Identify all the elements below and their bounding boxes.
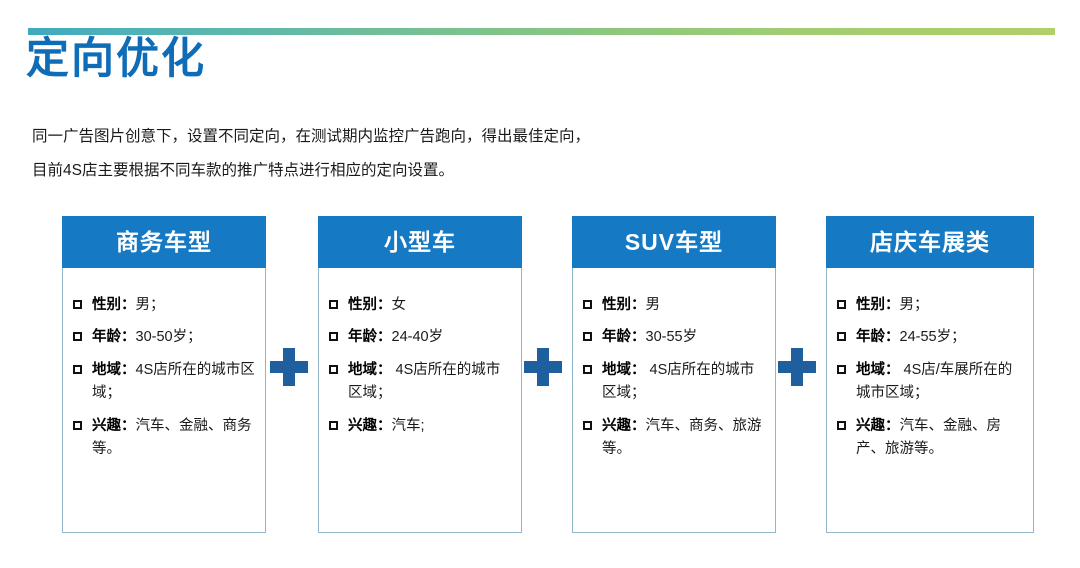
bullet-label: 地域：	[856, 362, 900, 378]
plus-connector-2	[524, 348, 562, 386]
bullet-label: 地域：	[92, 362, 136, 378]
bullet-text: 兴趣：汽车、金融、商务等。	[92, 415, 255, 462]
card-title-compact: 小型车	[384, 231, 456, 254]
square-bullet-icon	[329, 365, 338, 374]
bullet-label: 性别：	[856, 297, 900, 313]
bullet-label: 性别：	[602, 297, 646, 313]
list-item: 兴趣：汽车、商务、旅游等。	[583, 415, 765, 462]
bullet-text: 性别：男；	[92, 294, 255, 317]
targeting-card-anniversary-autoshow[interactable]: 店庆车展类 性别：男； 年龄：24-55岁； 地域： 4S店/车展所在的城市区域…	[826, 216, 1034, 533]
bullet-text: 地域： 4S店所在的城市区域；	[348, 359, 511, 406]
bullet-list-compact: 性别：女 年龄：24-40岁 地域： 4S店所在的城市区域； 兴趣：汽车;	[329, 294, 511, 438]
bullet-label: 性别：	[92, 297, 136, 313]
bullet-label: 地域：	[348, 362, 392, 378]
list-item: 兴趣：汽车、金融、房产、旅游等。	[837, 415, 1023, 462]
intro-line-2: 目前4S店主要根据不同车款的推广特点进行相应的定向设置。	[32, 154, 1042, 188]
bullet-label: 年龄：	[92, 329, 136, 345]
bullet-label: 性别：	[348, 297, 392, 313]
card-body-anniversary-autoshow: 性别：男； 年龄：24-55岁； 地域： 4S店/车展所在的城市区域； 兴趣：汽…	[827, 268, 1033, 462]
list-item: 年龄：24-55岁；	[837, 326, 1023, 349]
bullet-label: 兴趣：	[92, 418, 136, 434]
bullet-text: 年龄：30-50岁；	[92, 326, 255, 349]
list-item: 地域： 4S店所在的城市区域；	[329, 359, 511, 406]
list-item: 年龄：24-40岁	[329, 326, 511, 349]
bullet-label: 兴趣：	[348, 418, 392, 434]
bullet-text: 地域：4S店所在的城市区域；	[92, 359, 255, 406]
bullet-text: 年龄：24-55岁；	[856, 326, 1023, 349]
square-bullet-icon	[583, 300, 592, 309]
bullet-value: 女	[392, 297, 407, 313]
square-bullet-icon	[583, 332, 592, 341]
card-body-suv: 性别：男 年龄：30-55岁 地域： 4S店所在的城市区域； 兴趣：汽车、商务、…	[573, 268, 775, 462]
targeting-card-suv[interactable]: SUV车型 性别：男 年龄：30-55岁 地域： 4S店所在的城市区域；	[572, 216, 776, 533]
list-item: 年龄：30-55岁	[583, 326, 765, 349]
bullet-list-anniversary-autoshow: 性别：男； 年龄：24-55岁； 地域： 4S店/车展所在的城市区域； 兴趣：汽…	[837, 294, 1023, 462]
card-header-anniversary-autoshow: 店庆车展类	[826, 216, 1034, 268]
list-item: 性别：女	[329, 294, 511, 317]
bullet-text: 性别：男；	[856, 294, 1023, 317]
bullet-text: 性别：男	[602, 294, 765, 317]
square-bullet-icon	[837, 300, 846, 309]
plus-connector-1	[270, 348, 308, 386]
card-header-business: 商务车型	[62, 216, 266, 268]
bullet-text: 年龄：24-40岁	[348, 326, 511, 349]
bullet-text: 地域： 4S店/车展所在的城市区域；	[856, 359, 1023, 406]
intro-line-1: 同一广告图片创意下，设置不同定向，在测试期内监控广告跑向，得出最佳定向，	[32, 120, 1042, 154]
card-title-business: 商务车型	[116, 231, 212, 254]
bullet-value: 30-50岁；	[136, 329, 202, 345]
bullet-text: 性别：女	[348, 294, 511, 317]
square-bullet-icon	[583, 365, 592, 374]
card-title-suv: SUV车型	[625, 231, 723, 254]
bullet-list-business: 性别：男； 年龄：30-50岁； 地域：4S店所在的城市区域； 兴趣：汽车、金融…	[73, 294, 255, 462]
square-bullet-icon	[837, 365, 846, 374]
list-item: 兴趣：汽车、金融、商务等。	[73, 415, 255, 462]
square-bullet-icon	[329, 300, 338, 309]
bullet-label: 兴趣：	[602, 418, 646, 434]
bullet-text: 兴趣：汽车、商务、旅游等。	[602, 415, 765, 462]
targeting-cards-row: 商务车型 性别：男； 年龄：30-50岁； 地域：4S店所在的城市区域；	[0, 216, 1080, 536]
bullet-label: 年龄：	[856, 329, 900, 345]
bullet-value: 24-40岁	[392, 329, 444, 345]
bullet-label: 年龄：	[602, 329, 646, 345]
bullet-label: 年龄：	[348, 329, 392, 345]
list-item: 年龄：30-50岁；	[73, 326, 255, 349]
bullet-text: 兴趣：汽车;	[348, 415, 511, 438]
targeting-card-compact[interactable]: 小型车 性别：女 年龄：24-40岁 地域： 4S店所在的城市区域； 兴	[318, 216, 522, 533]
bullet-text: 地域： 4S店所在的城市区域；	[602, 359, 765, 406]
square-bullet-icon	[837, 332, 846, 341]
header-gradient-rule	[28, 28, 1055, 35]
square-bullet-icon	[73, 332, 82, 341]
plus-connector-3	[778, 348, 816, 386]
list-item: 兴趣：汽车;	[329, 415, 511, 438]
bullet-label: 地域：	[602, 362, 646, 378]
list-item: 性别：男	[583, 294, 765, 317]
list-item: 地域： 4S店/车展所在的城市区域；	[837, 359, 1023, 406]
bullet-value: 男；	[136, 297, 165, 313]
bullet-value: 24-55岁；	[900, 329, 966, 345]
square-bullet-icon	[73, 300, 82, 309]
list-item: 地域： 4S店所在的城市区域；	[583, 359, 765, 406]
bullet-text: 兴趣：汽车、金融、房产、旅游等。	[856, 415, 1023, 462]
list-item: 性别：男；	[73, 294, 255, 317]
card-header-compact: 小型车	[318, 216, 522, 268]
square-bullet-icon	[583, 421, 592, 430]
bullet-value: 男	[646, 297, 661, 313]
square-bullet-icon	[837, 421, 846, 430]
square-bullet-icon	[73, 365, 82, 374]
intro-paragraph: 同一广告图片创意下，设置不同定向，在测试期内监控广告跑向，得出最佳定向， 目前4…	[32, 120, 1042, 188]
targeting-card-business[interactable]: 商务车型 性别：男； 年龄：30-50岁； 地域：4S店所在的城市区域；	[62, 216, 266, 533]
bullet-label: 兴趣：	[856, 418, 900, 434]
list-item: 地域：4S店所在的城市区域；	[73, 359, 255, 406]
square-bullet-icon	[329, 421, 338, 430]
square-bullet-icon	[329, 332, 338, 341]
list-item: 性别：男；	[837, 294, 1023, 317]
card-title-anniversary-autoshow: 店庆车展类	[870, 231, 990, 254]
bullet-list-suv: 性别：男 年龄：30-55岁 地域： 4S店所在的城市区域； 兴趣：汽车、商务、…	[583, 294, 765, 462]
card-header-suv: SUV车型	[572, 216, 776, 268]
bullet-text: 年龄：30-55岁	[602, 326, 765, 349]
square-bullet-icon	[73, 421, 82, 430]
card-body-compact: 性别：女 年龄：24-40岁 地域： 4S店所在的城市区域； 兴趣：汽车;	[319, 268, 521, 438]
bullet-value: 汽车;	[392, 418, 425, 434]
bullet-value: 30-55岁	[646, 329, 698, 345]
card-body-business: 性别：男； 年龄：30-50岁； 地域：4S店所在的城市区域； 兴趣：汽车、金融…	[63, 268, 265, 462]
bullet-value: 男；	[900, 297, 929, 313]
page-title: 定向优化	[26, 36, 206, 83]
